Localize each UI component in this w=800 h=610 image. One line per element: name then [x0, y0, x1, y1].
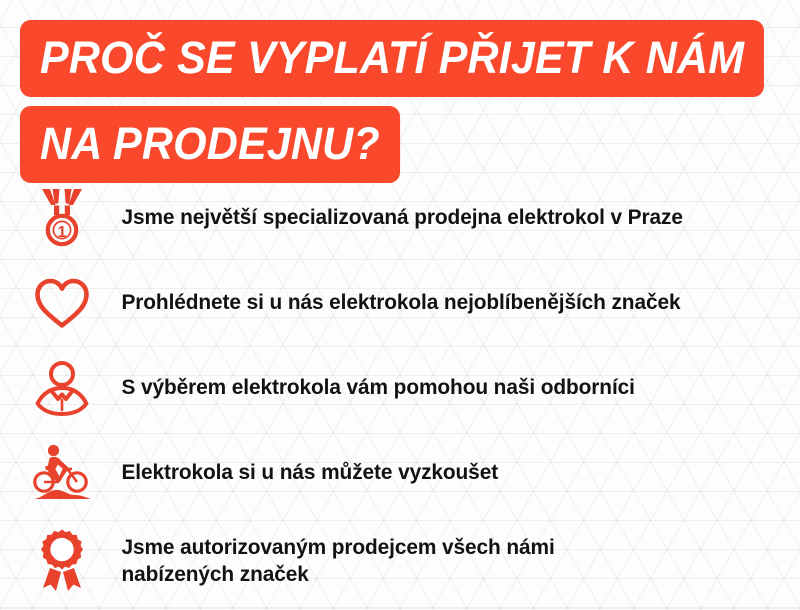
- feature-text-line-1: Jsme autorizovaným prodejcem všech námi: [121, 535, 554, 559]
- feature-row: Prohlédnete si u nás elektrokola nejoblí…: [0, 260, 800, 345]
- feature-text: Prohlédnete si u nás elektrokola nejoblí…: [104, 289, 779, 316]
- feature-text-line-1: Prohlédnete si u nás elektrokola nejoblí…: [121, 290, 680, 314]
- cyclist-on-hill-icon: [20, 442, 104, 504]
- svg-text:1: 1: [58, 224, 67, 241]
- feature-text: Elektrokola si u nás můžete vyzkoušet: [104, 459, 779, 486]
- headline-banner-line-1: PROČ SE VYPLATÍ PŘIJET K NÁM: [20, 20, 764, 97]
- feature-row: Jsme autorizovaným prodejcem všech námi …: [0, 515, 800, 607]
- heart-outline-icon: [20, 277, 104, 329]
- feature-text-line-1: Jsme největší specializovaná prodejna el…: [121, 205, 682, 229]
- headline-banner-line-2: NA PRODEJNU?: [20, 106, 400, 183]
- medal-first-place-icon: 1: [20, 188, 104, 248]
- expert-person-icon: [20, 360, 104, 416]
- feature-text: Jsme největší specializovaná prodejna el…: [104, 204, 779, 231]
- feature-text-line-2: nabízených značek: [121, 561, 759, 588]
- feature-row: 1 Jsme největší specializovaná prodejna …: [0, 175, 800, 260]
- feature-text: Jsme autorizovaným prodejcem všech námi …: [104, 534, 779, 588]
- headline-group: PROČ SE VYPLATÍ PŘIJET K NÁM NA PRODEJNU…: [20, 20, 780, 183]
- award-rosette-icon: [20, 528, 104, 594]
- feature-list: 1 Jsme největší specializovaná prodejna …: [0, 175, 800, 607]
- feature-text: S výběrem elektrokola vám pomohou naši o…: [104, 374, 779, 401]
- feature-row: S výběrem elektrokola vám pomohou naši o…: [0, 345, 800, 430]
- feature-text-line-1: Elektrokola si u nás můžete vyzkoušet: [121, 460, 498, 484]
- feature-text-line-1: S výběrem elektrokola vám pomohou naši o…: [121, 375, 634, 399]
- promo-poster: PROČ SE VYPLATÍ PŘIJET K NÁM NA PRODEJNU…: [0, 0, 800, 610]
- feature-row: Elektrokola si u nás můžete vyzkoušet: [0, 430, 800, 515]
